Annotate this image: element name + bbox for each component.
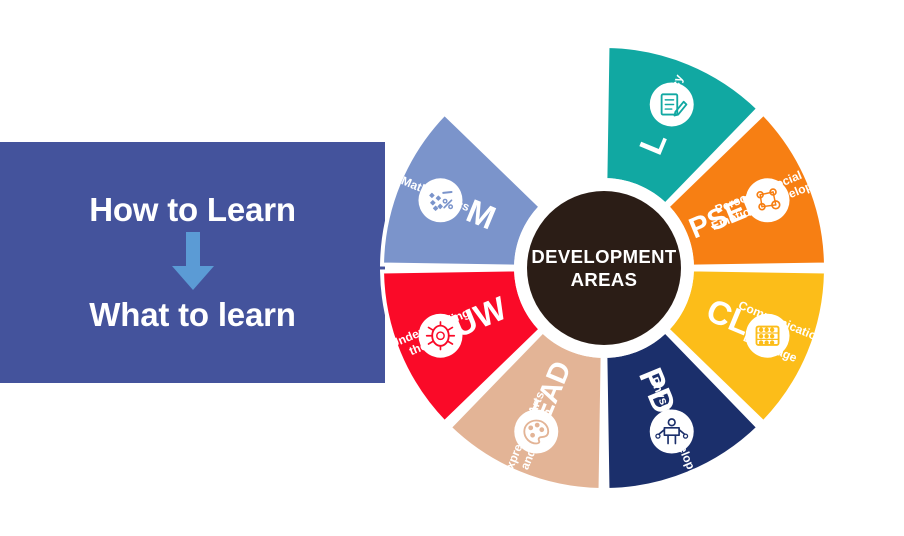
paint-palette-icon [514, 410, 558, 454]
globe-microbe-icon [418, 314, 462, 358]
math-symbols-icon [418, 178, 462, 222]
abacus-icon [746, 314, 790, 358]
development-areas-wheel: LLiteracyPSEDPersonal, Social andEmotion… [379, 43, 829, 493]
segment-wedge[interactable] [382, 114, 541, 267]
exercise-person-icon [650, 410, 694, 454]
hub-label-line-1: DEVELOPMENT [531, 246, 677, 267]
people-network-icon [746, 178, 790, 222]
hub-label-line-2: AREAS [571, 269, 638, 290]
banner-line-2: What to learn [89, 298, 295, 333]
infographic-canvas: How to Learn What to learn [0, 0, 904, 536]
book-pencil-icon [650, 82, 694, 126]
how-to-learn-banner: How to Learn What to learn [0, 142, 385, 383]
hub-circle [527, 191, 681, 345]
banner-line-1: How to Learn [89, 193, 296, 228]
down-arrow-icon [170, 232, 216, 292]
wheel-segment-m[interactable]: MMathematics [382, 114, 541, 267]
